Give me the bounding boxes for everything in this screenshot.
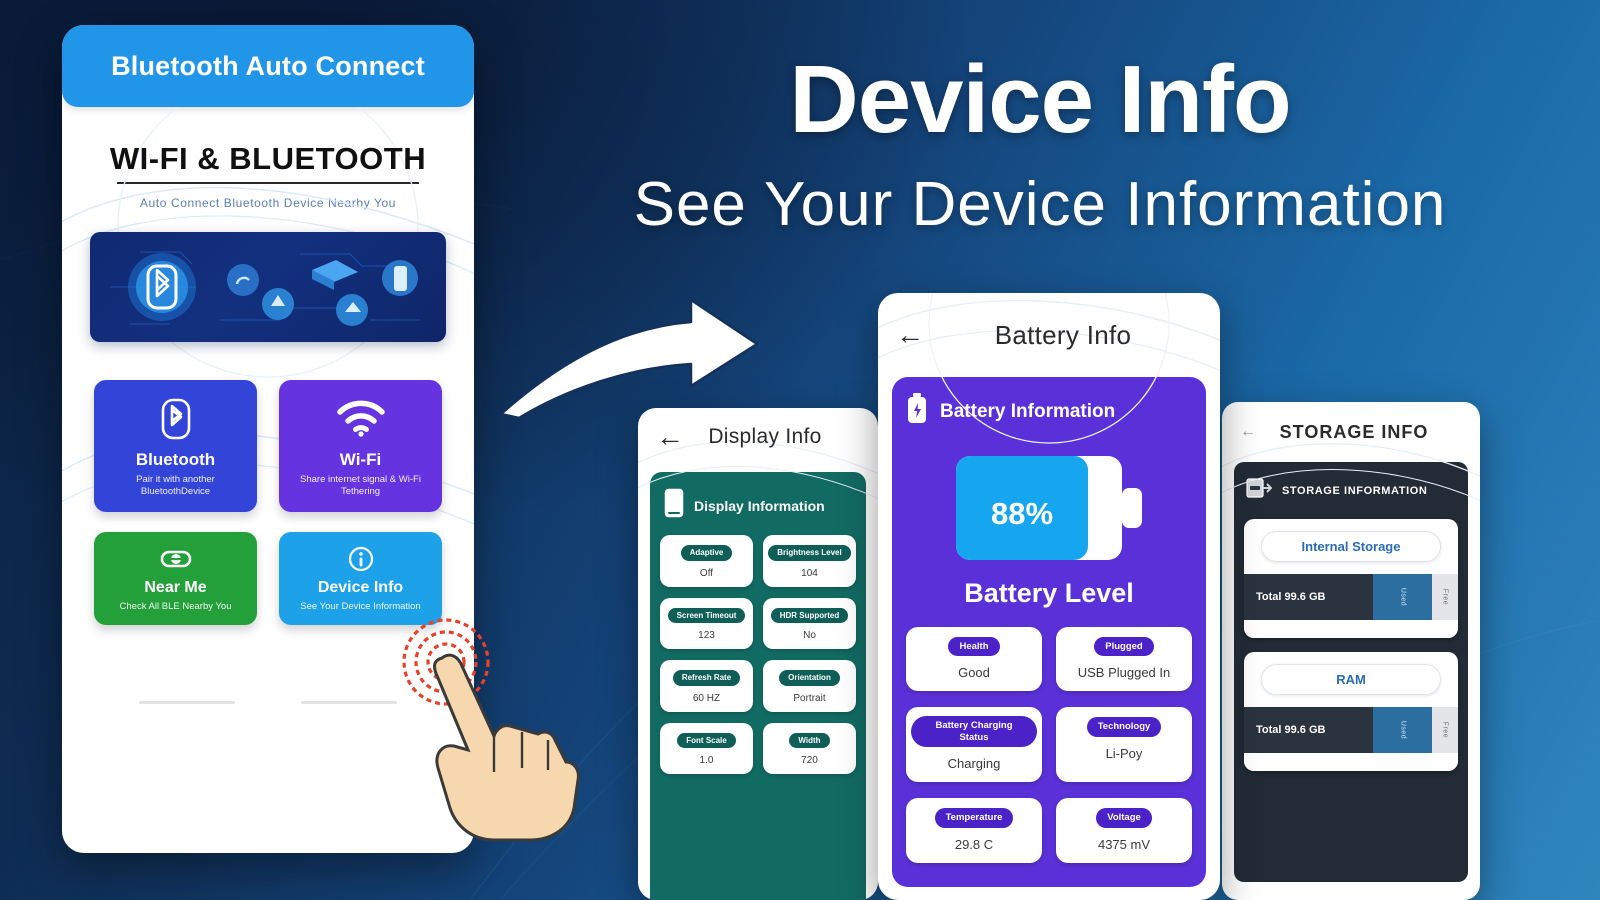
tile-description: Check All BLE Nearby You [104, 601, 247, 613]
cell-value: 60 HZ [664, 693, 749, 704]
section-title: WI-FI & BLUETOOTH [80, 141, 456, 177]
feature-tile-grid: Bluetooth Pair it with another Bluetooth… [94, 380, 442, 625]
bluetooth-icon [104, 396, 247, 442]
storage-section-internal: Internal Storage Total 99.6 GB Used Free [1244, 519, 1458, 638]
footer-bar-right [301, 701, 397, 704]
storage-total-label: Total 99.6 GB [1244, 574, 1373, 620]
storage-section-name[interactable]: Internal Storage [1261, 531, 1441, 562]
storage-usage-bar: Total 99.6 GB Used Free [1244, 574, 1458, 620]
display-info-grid: Adaptive Off Brightness Level 104 Screen… [660, 535, 856, 774]
tile-bluetooth[interactable]: Bluetooth Pair it with another Bluetooth… [94, 380, 257, 512]
near-me-icon [104, 544, 247, 574]
bluetooth-hero-banner [90, 232, 446, 342]
cell-label: Technology [1087, 717, 1162, 736]
info-cell: Width 720 [763, 723, 856, 775]
storage-info-panel: ← STORAGE INFO STORAGE INFORMATION Inter… [1222, 402, 1480, 900]
cell-value: Li-Poy [1061, 746, 1187, 761]
back-arrow-icon[interactable]: ← [656, 423, 684, 451]
cell-label: Orientation [779, 670, 840, 686]
section-title-underline [117, 182, 419, 184]
info-cell: Brightness Level 104 [763, 535, 856, 587]
cell-value: No [767, 630, 852, 641]
cell-value: USB Plugged In [1061, 665, 1187, 680]
page-title: Device Info [500, 52, 1580, 148]
cell-value: 1.0 [664, 755, 749, 766]
battery-level-graphic: 88% [906, 452, 1192, 564]
info-cell: Battery Charging Status Charging [906, 707, 1042, 782]
storage-free-segment: Free [1432, 707, 1458, 753]
tile-title: Bluetooth [104, 450, 247, 470]
storage-section-ram: RAM Total 99.6 GB Used Free [1244, 652, 1458, 771]
cell-label: Adaptive [681, 545, 733, 561]
storage-card-header: STORAGE INFORMATION [1234, 462, 1468, 519]
back-arrow-icon[interactable]: ← [1240, 424, 1256, 440]
cell-value: 123 [664, 630, 749, 641]
app-header-bar: Bluetooth Auto Connect [62, 25, 474, 107]
battery-percent-text: 88% [991, 496, 1053, 531]
storage-total-label: Total 99.6 GB [1244, 707, 1373, 753]
storage-free-label: Free [1442, 722, 1449, 738]
info-cell: Screen Timeout 123 [660, 598, 753, 650]
info-cell: Plugged USB Plugged In [1056, 627, 1192, 691]
cell-label: Health [948, 637, 999, 656]
tile-near-me[interactable]: Near Me Check All BLE Nearby You [94, 532, 257, 625]
storage-card-title: STORAGE INFORMATION [1282, 485, 1427, 497]
cell-label: Width [789, 733, 829, 749]
cell-label: Plugged [1094, 637, 1153, 656]
storage-block-spacer [1244, 753, 1458, 771]
cell-value: 4375 mV [1061, 837, 1187, 852]
cell-value: 104 [767, 568, 852, 579]
display-information-card: Display Information Adaptive Off Brightn… [650, 472, 866, 900]
display-card-header: Display Information [660, 484, 856, 535]
display-info-panel: ← Display Info Display Information Adapt… [638, 408, 878, 900]
cell-label: Brightness Level [768, 545, 850, 561]
info-cell: Temperature 29.8 C [906, 798, 1042, 862]
battery-info-topbar: ← Battery Info [878, 293, 1220, 377]
battery-info-grid: Health Good Plugged USB Plugged In Batte… [906, 627, 1192, 863]
info-cell: Font Scale 1.0 [660, 723, 753, 775]
battery-information-card: Battery Information 88% Battery Level He… [892, 377, 1206, 887]
display-info-topbar: ← Display Info [638, 408, 878, 466]
storage-drive-icon [1246, 476, 1272, 505]
cell-value: Portrait [767, 693, 852, 704]
footer-bar-left [139, 701, 235, 704]
cell-label: Voltage [1096, 808, 1152, 827]
cell-value: 29.8 C [911, 837, 1037, 852]
battery-card-title: Battery Information [940, 401, 1115, 423]
cell-value: Good [911, 665, 1037, 680]
cell-label: HDR Supported [771, 608, 849, 624]
info-cell: HDR Supported No [763, 598, 856, 650]
tile-title: Near Me [104, 579, 247, 597]
display-card-title: Display Information [694, 498, 825, 514]
storage-used-segment: Used [1373, 574, 1432, 620]
storage-section-name[interactable]: RAM [1261, 664, 1441, 695]
storage-used-label: Used [1399, 721, 1406, 739]
back-arrow-icon[interactable]: ← [896, 321, 924, 349]
cell-label: Temperature [935, 808, 1014, 827]
tile-wifi[interactable]: Wi-Fi Share internet signal & Wi-Fi Teth… [279, 380, 442, 512]
storage-free-segment: Free [1432, 574, 1458, 620]
battery-level-label: Battery Level [906, 578, 1192, 609]
storage-usage-bar: Total 99.6 GB Used Free [1244, 707, 1458, 753]
battery-icon [906, 393, 928, 430]
curved-arrow-icon [495, 292, 765, 422]
panel-title: Display Info [684, 425, 860, 449]
app-title: Bluetooth Auto Connect [111, 51, 425, 82]
cell-label: Screen Timeout [668, 608, 746, 624]
storage-free-label: Free [1442, 589, 1449, 605]
battery-info-panel: ← Battery Info Battery Information 88% B… [878, 293, 1220, 900]
tile-title: Wi-Fi [289, 450, 432, 470]
info-cell: Adaptive Off [660, 535, 753, 587]
info-cell: Technology Li-Poy [1056, 707, 1192, 782]
tile-description: Pair it with another BluetoothDevice [104, 474, 247, 498]
section-subtitle: Auto Connect Bluetooth Device Nearby You [80, 196, 456, 210]
info-cell: Health Good [906, 627, 1042, 691]
info-cell: Voltage 4375 mV [1056, 798, 1192, 862]
cell-value: Charging [911, 756, 1037, 771]
tile-device-info[interactable]: Device Info See Your Device Information [279, 532, 442, 625]
panel-title: Battery Info [924, 320, 1202, 351]
cell-label: Battery Charging Status [911, 716, 1037, 747]
cell-label: Refresh Rate [673, 670, 740, 686]
tile-description: Share internet signal & Wi-Fi Tethering [289, 474, 432, 498]
wifi-icon [289, 396, 432, 442]
storage-block-spacer [1244, 620, 1458, 638]
storage-info-topbar: ← STORAGE INFO [1222, 402, 1480, 462]
hero-header: Device Info See Your Device Information [500, 52, 1580, 237]
panel-title: STORAGE INFO [1256, 422, 1462, 443]
battery-card-header: Battery Information [906, 393, 1192, 430]
pointing-hand-tap-icon [398, 612, 598, 847]
cell-value: Off [664, 568, 749, 579]
cell-value: 720 [767, 755, 852, 766]
storage-used-segment: Used [1373, 707, 1432, 753]
cell-label: Font Scale [677, 733, 735, 749]
storage-used-label: Used [1399, 588, 1406, 606]
info-circle-icon [289, 544, 432, 574]
tile-description: See Your Device Information [289, 601, 432, 613]
phone-display-icon [664, 488, 684, 523]
info-cell: Refresh Rate 60 HZ [660, 660, 753, 712]
tile-title: Device Info [289, 579, 432, 597]
info-cell: Orientation Portrait [763, 660, 856, 712]
storage-information-card: STORAGE INFORMATION Internal Storage Tot… [1234, 462, 1468, 882]
page-subtitle: See Your Device Information [500, 172, 1580, 237]
